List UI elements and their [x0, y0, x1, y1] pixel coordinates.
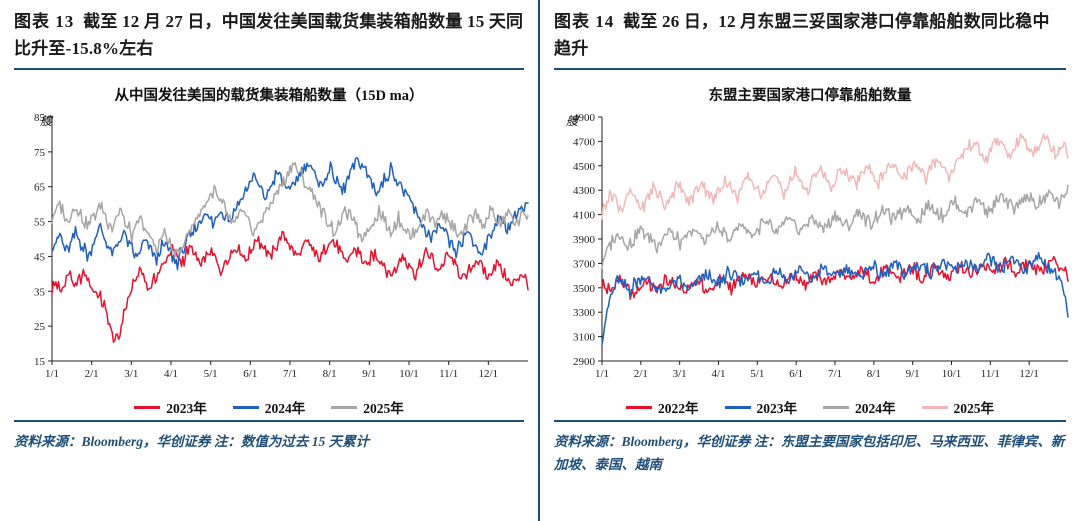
right-title-text: 截至 26 日，12 月东盟三妥国家港口停靠船舶数同比稳中趋升 — [554, 12, 1050, 58]
svg-text:12/1: 12/1 — [479, 368, 499, 380]
svg-text:7/1: 7/1 — [828, 368, 842, 380]
svg-text:2/1: 2/1 — [634, 368, 648, 380]
svg-text:8/1: 8/1 — [323, 368, 337, 380]
right-title-divider — [554, 68, 1066, 70]
legend-item: 2023年 — [134, 397, 207, 417]
legend-label: 2025年 — [954, 397, 995, 417]
right-title: 图表 14 截至 26 日，12 月东盟三妥国家港口停靠船舶数同比稳中趋升 — [540, 0, 1080, 62]
svg-text:5/1: 5/1 — [750, 368, 764, 380]
right-legend: 2022年2023年2024年2025年 — [540, 397, 1080, 417]
legend-item: 2022年 — [626, 397, 699, 417]
svg-text:35: 35 — [34, 286, 46, 298]
svg-text:1/1: 1/1 — [45, 368, 59, 380]
legend-item: 2024年 — [823, 397, 896, 417]
svg-text:3/1: 3/1 — [673, 368, 687, 380]
svg-text:8/1: 8/1 — [867, 368, 881, 380]
legend-label: 2025年 — [363, 397, 404, 417]
legend-item: 2024年 — [233, 397, 306, 417]
right-exhibit-label: 图表 14 — [554, 12, 614, 31]
svg-text:4300: 4300 — [573, 185, 596, 197]
svg-text:3700: 3700 — [573, 258, 596, 270]
svg-text:3500: 3500 — [573, 283, 596, 295]
svg-text:12/1: 12/1 — [1019, 368, 1039, 380]
legend-swatch — [725, 406, 751, 409]
svg-text:75: 75 — [34, 147, 46, 159]
svg-text:45: 45 — [34, 251, 46, 263]
left-y-unit: 艘 — [40, 112, 52, 129]
right-chart-title: 东盟主要国家港口停靠船舶数量 — [540, 84, 1080, 105]
legend-label: 2024年 — [855, 397, 896, 417]
legend-label: 2024年 — [265, 397, 306, 417]
svg-text:11/1: 11/1 — [981, 368, 1000, 380]
svg-text:9/1: 9/1 — [362, 368, 376, 380]
svg-text:10/1: 10/1 — [399, 368, 419, 380]
svg-text:65: 65 — [34, 182, 46, 194]
legend-swatch — [134, 406, 160, 409]
svg-text:3300: 3300 — [573, 307, 596, 319]
legend-label: 2023年 — [757, 397, 798, 417]
svg-text:6/1: 6/1 — [243, 368, 257, 380]
svg-text:2/1: 2/1 — [85, 368, 99, 380]
legend-item: 2023年 — [725, 397, 798, 417]
left-legend: 2023年2024年2025年 — [0, 397, 538, 417]
left-chart-svg: 15253545556575851/12/13/14/15/16/17/18/1… — [0, 105, 540, 395]
svg-text:15: 15 — [34, 356, 46, 368]
legend-label: 2023年 — [166, 397, 207, 417]
svg-text:4100: 4100 — [573, 210, 596, 222]
page-root: 图表 13 截至 12 月 27 日，中国发往美国载货集装箱船数量 15 天同比… — [0, 0, 1080, 521]
svg-text:6/1: 6/1 — [789, 368, 803, 380]
svg-text:25: 25 — [34, 321, 46, 333]
left-chart-wrap: 从中国发往美国的载货集装箱船数量（15D ma） 艘 1525354555657… — [0, 84, 538, 414]
legend-swatch — [922, 406, 948, 409]
svg-text:7/1: 7/1 — [283, 368, 297, 380]
svg-text:10/1: 10/1 — [942, 368, 962, 380]
legend-label: 2022年 — [658, 397, 699, 417]
left-chart-title: 从中国发往美国的载货集装箱船数量（15D ma） — [0, 84, 538, 105]
left-exhibit-label: 图表 13 — [14, 12, 74, 31]
panel-right: 图表 14 截至 26 日，12 月东盟三妥国家港口停靠船舶数同比稳中趋升 东盟… — [540, 0, 1080, 521]
svg-text:1/1: 1/1 — [595, 368, 609, 380]
svg-text:11/1: 11/1 — [439, 368, 458, 380]
legend-item: 2025年 — [331, 397, 404, 417]
svg-text:3/1: 3/1 — [124, 368, 138, 380]
svg-text:4/1: 4/1 — [711, 368, 725, 380]
right-y-unit: 艘 — [566, 112, 578, 129]
svg-text:5/1: 5/1 — [204, 368, 218, 380]
right-source: 资料来源：Bloomberg，华创证券 注：东盟主要国家包括印尼、马来西亚、菲律… — [540, 422, 1080, 476]
panel-left: 图表 13 截至 12 月 27 日，中国发往美国载货集装箱船数量 15 天同比… — [0, 0, 540, 521]
right-chart-svg: 2900310033003500370039004100430045004700… — [540, 105, 1080, 395]
legend-swatch — [233, 406, 259, 409]
svg-text:4/1: 4/1 — [164, 368, 178, 380]
legend-item: 2025年 — [922, 397, 995, 417]
svg-text:4700: 4700 — [573, 136, 596, 148]
svg-text:3900: 3900 — [573, 234, 596, 246]
legend-swatch — [626, 406, 652, 409]
svg-text:9/1: 9/1 — [906, 368, 920, 380]
svg-text:55: 55 — [34, 217, 46, 229]
legend-swatch — [823, 406, 849, 409]
left-title: 图表 13 截至 12 月 27 日，中国发往美国载货集装箱船数量 15 天同比… — [0, 0, 538, 62]
left-title-divider — [14, 68, 524, 70]
svg-text:3100: 3100 — [573, 332, 596, 344]
left-source: 资料来源：Bloomberg，华创证券 注：数值为过去 15 天累计 — [0, 422, 538, 453]
svg-text:2900: 2900 — [573, 356, 596, 368]
left-title-text: 截至 12 月 27 日，中国发往美国载货集装箱船数量 15 天同比升至-15.… — [14, 12, 523, 58]
svg-text:4500: 4500 — [573, 161, 596, 173]
legend-swatch — [331, 406, 357, 409]
right-chart-wrap: 东盟主要国家港口停靠船舶数量 艘 29003100330035003700390… — [540, 84, 1080, 414]
